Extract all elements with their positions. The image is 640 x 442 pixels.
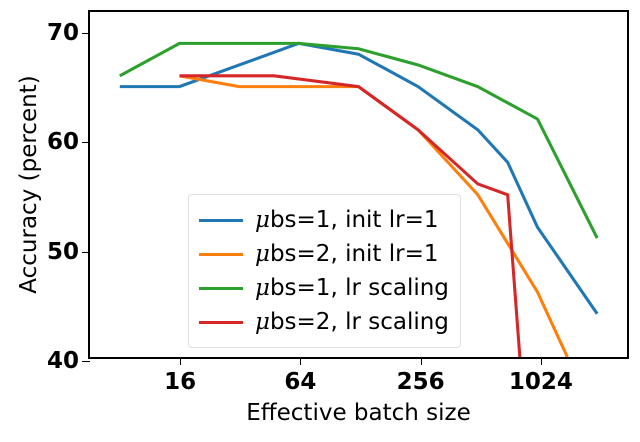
x-tick-label: 64 <box>284 369 316 395</box>
y-tick-label: 60 <box>47 129 79 155</box>
y-tick-label: 50 <box>47 239 79 265</box>
x-tick-mark <box>300 357 301 365</box>
y-axis-label: Accuracy (percent) <box>16 10 44 359</box>
plot-area: 40506070 16642561024 μbs=1, init lr=1 μb… <box>88 10 629 359</box>
legend-item-label: μbs=2, lr scaling <box>255 309 449 335</box>
y-tick-mark <box>82 361 90 362</box>
x-tick-label: 16 <box>164 369 196 395</box>
legend: μbs=1, init lr=1 μbs=2, init lr=1 μbs=1,… <box>188 194 461 348</box>
y-tick-mark <box>82 142 90 143</box>
legend-item[interactable]: μbs=2, init lr=1 <box>199 237 449 271</box>
legend-item[interactable]: μbs=1, init lr=1 <box>199 203 449 237</box>
x-tick-mark <box>541 357 542 365</box>
legend-line-icon <box>199 321 243 324</box>
legend-line-icon <box>199 253 243 256</box>
y-tick-mark <box>82 33 90 34</box>
y-tick-label: 70 <box>47 20 79 46</box>
legend-line-icon <box>199 287 243 290</box>
legend-item-label: μbs=1, init lr=1 <box>255 207 439 233</box>
x-tick-mark <box>180 357 181 365</box>
legend-item-label: μbs=2, init lr=1 <box>255 241 439 267</box>
legend-line-icon <box>199 219 243 222</box>
figure: 40506070 16642561024 μbs=1, init lr=1 μb… <box>0 0 640 442</box>
x-tick-mark <box>421 357 422 365</box>
x-axis-label: Effective batch size <box>88 400 629 426</box>
x-tick-label: 256 <box>397 369 445 395</box>
legend-item[interactable]: μbs=1, lr scaling <box>199 271 449 305</box>
y-tick-mark <box>82 252 90 253</box>
x-tick-label: 1024 <box>509 369 573 395</box>
legend-item[interactable]: μbs=2, lr scaling <box>199 305 449 339</box>
y-tick-label: 40 <box>47 348 79 374</box>
legend-item-label: μbs=1, lr scaling <box>255 275 449 301</box>
